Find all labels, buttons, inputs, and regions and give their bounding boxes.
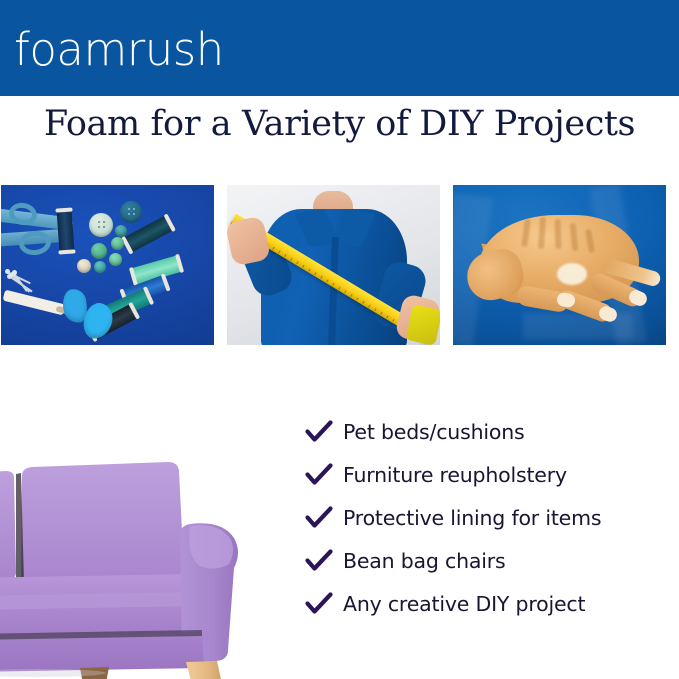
benefit-item-reupholstery: Furniture reupholstery <box>305 453 679 496</box>
sofa-leg-front <box>186 661 226 679</box>
button-small-green-3 <box>109 253 122 266</box>
pin-head-4 <box>12 270 17 275</box>
benefit-item-diy-project: Any creative DIY project <box>305 582 679 625</box>
button-small-teal-1 <box>94 261 106 273</box>
button-small-green-1 <box>91 243 107 259</box>
sofa-back-cushion-left <box>0 471 16 583</box>
sofa-illustration <box>0 440 276 679</box>
marketing-infographic: foamrush Foam for a Variety of DIY Proje… <box>0 0 679 679</box>
cat-belly-patch <box>557 263 587 285</box>
benefit-item-bean-bag-chairs: Bean bag chairs <box>305 539 679 582</box>
photo-tape-measure <box>227 185 440 345</box>
button-large-mint <box>89 213 113 237</box>
brand-logo: foamrush <box>14 27 224 72</box>
benefit-label: Furniture reupholstery <box>343 463 567 487</box>
button-large-teal <box>120 201 142 223</box>
benefit-label: Bean bag chairs <box>343 549 505 573</box>
sofa-back-cushion-main <box>21 462 184 587</box>
page-title: Foam for a Variety of DIY Projects <box>0 104 679 144</box>
checkmark-icon <box>305 549 343 573</box>
benefit-label: Pet beds/cushions <box>343 420 524 444</box>
checkmark-icon <box>305 506 343 530</box>
benefit-label: Protective lining for items <box>343 506 601 530</box>
button-small-cream <box>77 259 91 273</box>
button-small-teal-2 <box>115 225 127 237</box>
benefit-label: Any creative DIY project <box>343 592 585 616</box>
photo-cat-beanbag <box>453 185 666 345</box>
benefit-list: Pet beds/cushions Furniture reupholstery… <box>305 410 679 625</box>
checkmark-icon <box>305 420 343 444</box>
cat-stripe-3 <box>554 219 561 249</box>
checkmark-icon <box>305 592 343 616</box>
brand-banner: foamrush <box>0 0 679 96</box>
benefit-item-pet-beds: Pet beds/cushions <box>305 410 679 453</box>
button-small-green-2 <box>111 237 124 250</box>
tape-measure-case <box>406 304 440 345</box>
benefit-item-protective-lining: Protective lining for items <box>305 496 679 539</box>
thread-spool-navy-1 <box>56 209 74 254</box>
photo-sewing-flatlay <box>1 185 214 345</box>
photo-strip <box>0 185 679 345</box>
checkmark-icon <box>305 463 343 487</box>
